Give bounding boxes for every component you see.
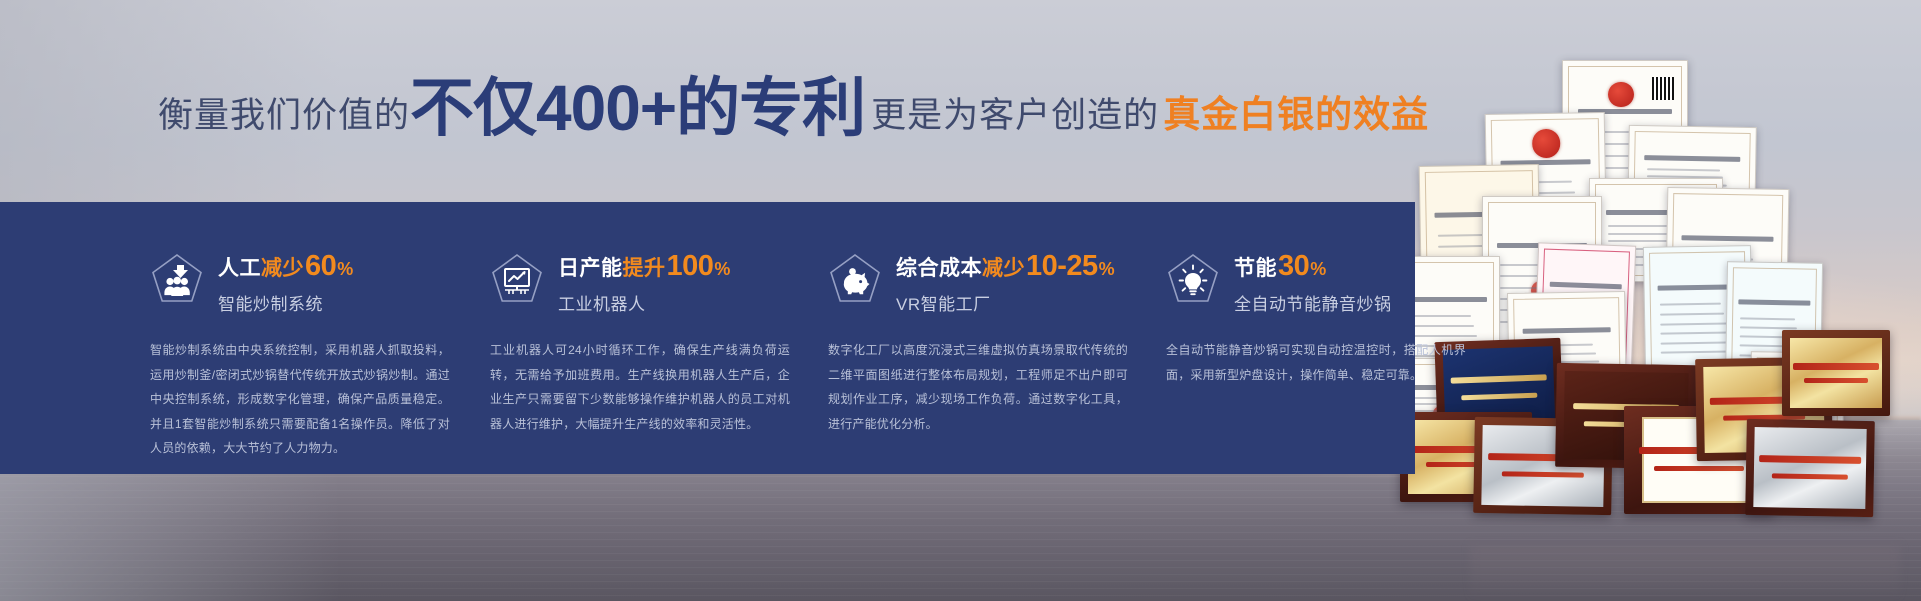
- feature-card: 人工减少60%智能炒制系统智能炒制系统由中央系统控制，采用机器人抓取投料，运用炒…: [150, 250, 470, 474]
- feature-card-subtitle: 工业机器人: [558, 290, 730, 315]
- feature-card-title: 节能30%: [1234, 252, 1392, 281]
- metric-verb: 提升: [623, 258, 666, 279]
- feature-panel: 人工减少60%智能炒制系统智能炒制系统由中央系统控制，采用机器人抓取投料，运用炒…: [0, 202, 1415, 474]
- metric-label: 节能: [1234, 258, 1277, 279]
- feature-card-list: 人工减少60%智能炒制系统智能炒制系统由中央系统控制，采用机器人抓取投料，运用炒…: [0, 202, 1415, 474]
- award-plaque: [1745, 419, 1875, 517]
- metric-number: 60: [305, 252, 336, 281]
- feature-card-header: 日产能提升100%工业机器人: [490, 250, 810, 316]
- feature-card-subtitle: VR智能工厂: [896, 290, 1115, 315]
- award-plaque: [1782, 330, 1890, 416]
- page-title: 衡量我们价值的 不仅400+的专利 更是为客户创造的 真金白银的效益: [158, 76, 1429, 148]
- feature-card-title: 综合成本减少10-25%: [896, 252, 1115, 281]
- feature-card-title: 人工减少60%: [218, 252, 353, 281]
- headline-prefix: 衡量我们价值的: [158, 87, 410, 138]
- metric-number: 10-25: [1026, 252, 1098, 281]
- metric-number: 30: [1278, 252, 1309, 281]
- metric-percent: %: [1099, 260, 1115, 278]
- feature-card-text: 节能30%全自动节能静音炒锅: [1234, 250, 1392, 315]
- feature-card: 节能30%全自动节能静音炒锅全自动节能静音炒锅可实现自动控温控时，搭配人机界面，…: [1166, 250, 1486, 474]
- metric-verb: 减少: [982, 258, 1025, 279]
- lightbulb-icon: [1166, 252, 1220, 306]
- feature-card-body: 全自动节能静音炒锅可实现自动控温控时，搭配人机界面，采用新型炉盘设计，操作简单、…: [1166, 338, 1466, 387]
- metric-percent: %: [337, 260, 353, 278]
- metric-label: 日产能: [558, 258, 623, 279]
- feature-card-body: 数字化工厂以高度沉浸式三维虚拟仿真场景取代传统的二维平面图纸进行整体布局规划，工…: [828, 338, 1128, 436]
- feature-card-body: 工业机器人可24小时循环工作，确保生产线满负荷运转，无需给予加班费用。生产线换用…: [490, 338, 790, 436]
- feature-card: 日产能提升100%工业机器人工业机器人可24小时循环工作，确保生产线满负荷运转，…: [490, 250, 810, 474]
- feature-card-text: 人工减少60%智能炒制系统: [218, 250, 353, 315]
- feature-card-header: 人工减少60%智能炒制系统: [150, 250, 470, 316]
- metric-percent: %: [1310, 260, 1326, 278]
- metric-number: 100: [667, 252, 714, 281]
- feature-card-subtitle: 全自动节能静音炒锅: [1234, 290, 1392, 315]
- metric-verb: 减少: [261, 258, 304, 279]
- people-group-icon: [150, 252, 204, 306]
- feature-card-body: 智能炒制系统由中央系统控制，采用机器人抓取投料，运用炒制釜/密闭式炒锅替代传统开…: [150, 338, 450, 461]
- headline-middle: 更是为客户创造的: [871, 87, 1159, 138]
- chart-board-icon: [490, 252, 544, 306]
- feature-card-header: 综合成本减少10-25%VR智能工厂: [828, 250, 1148, 316]
- metric-label: 综合成本: [896, 258, 982, 279]
- feature-card-text: 日产能提升100%工业机器人: [558, 250, 730, 315]
- metric-label: 人工: [218, 258, 261, 279]
- feature-card: 综合成本减少10-25%VR智能工厂数字化工厂以高度沉浸式三维虚拟仿真场景取代传…: [828, 250, 1148, 474]
- piggy-bank-icon: [828, 252, 882, 306]
- feature-card-header: 节能30%全自动节能静音炒锅: [1166, 250, 1486, 316]
- headline-highlight: 不仅400+的专利: [410, 76, 865, 140]
- feature-card-title: 日产能提升100%: [558, 252, 730, 281]
- feature-card-text: 综合成本减少10-25%VR智能工厂: [896, 250, 1115, 315]
- feature-card-subtitle: 智能炒制系统: [218, 290, 353, 315]
- metric-percent: %: [714, 260, 730, 278]
- headline-accent: 真金白银的效益: [1163, 84, 1429, 138]
